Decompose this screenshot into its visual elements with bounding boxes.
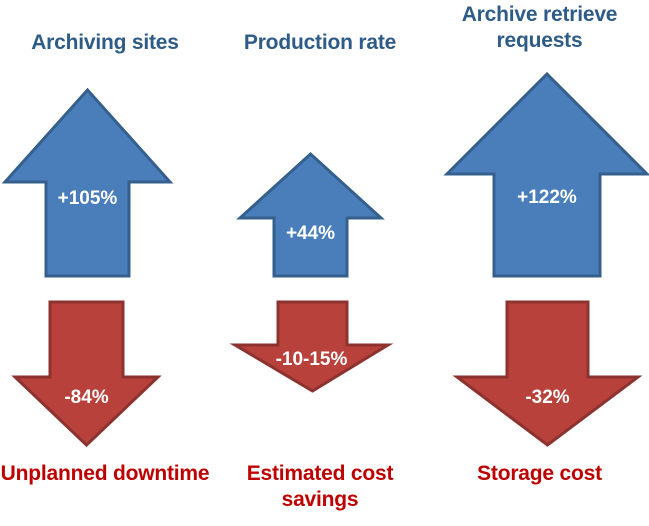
metric-column-archiving-sites: Archiving sites +105% -84% Unplanned dow… (0, 0, 210, 526)
down-arrow-icon (455, 300, 640, 447)
down-arrow-graphic: -32% (455, 300, 640, 447)
column-footer-label: Storage cost (430, 461, 649, 487)
column-title: Archiving sites (0, 30, 210, 56)
up-arrow-icon (3, 88, 172, 278)
column-footer-label: Estimated cost savings (210, 461, 430, 513)
up-arrow-icon (238, 152, 383, 278)
up-arrow-icon (445, 72, 649, 278)
column-title: Archive retrieve requests (430, 2, 649, 54)
up-arrow-graphic: +44% (238, 152, 383, 278)
metric-column-archive-retrieve-requests: Archive retrieve requests +122% -32% Sto… (430, 0, 649, 526)
down-arrow-icon (13, 300, 160, 447)
column-title: Production rate (210, 30, 430, 56)
metric-column-production-rate: Production rate +44% -10-15% Estimated c… (210, 0, 430, 526)
down-arrow-graphic: -10-15% (233, 300, 390, 393)
infographic-canvas: Archiving sites +105% -84% Unplanned dow… (0, 0, 649, 526)
up-arrow-graphic: +105% (3, 88, 172, 278)
column-footer-label: Unplanned downtime (0, 461, 210, 487)
up-arrow-graphic: +122% (445, 72, 649, 278)
down-arrow-graphic: -84% (13, 300, 160, 447)
down-arrow-icon (233, 300, 390, 393)
